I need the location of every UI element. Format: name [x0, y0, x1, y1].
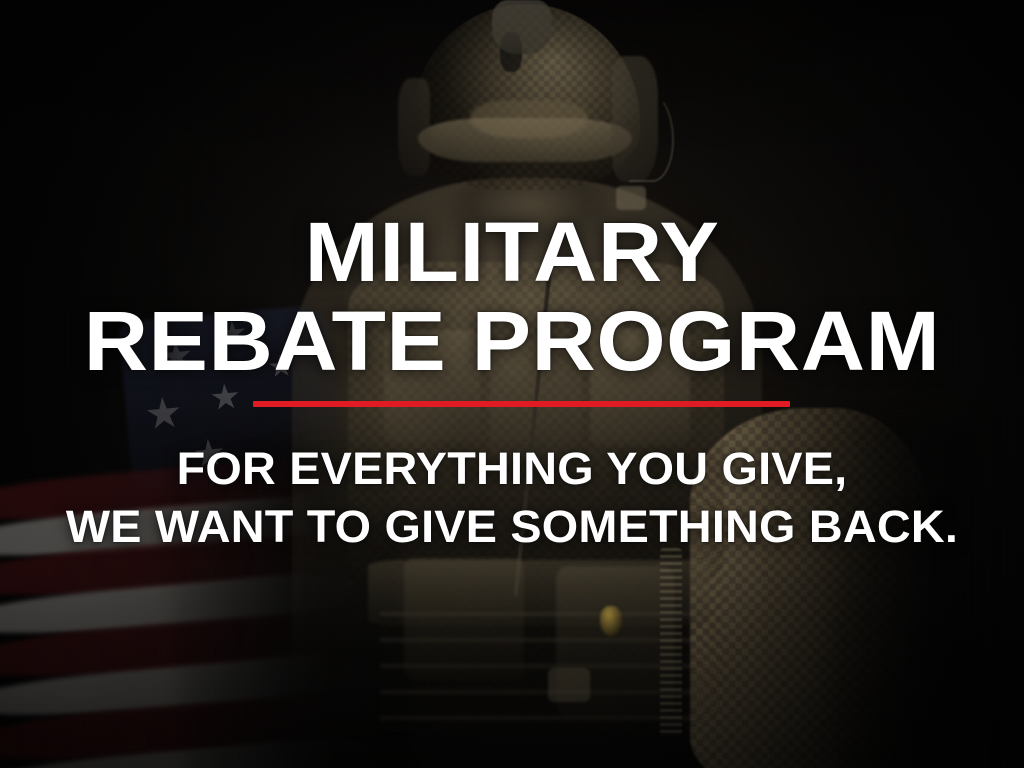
subhead-line-2: WE WANT TO GIVE SOMETHING BACK.	[0, 504, 1024, 549]
headline-line-1: MILITARY	[0, 214, 1024, 291]
text-overlay: MILITARY REBATE PROGRAM FOR EVERYTHING Y…	[0, 0, 1024, 768]
headline-line-2: REBATE PROGRAM	[0, 303, 1024, 380]
military-rebate-banner: MILITARY REBATE PROGRAM FOR EVERYTHING Y…	[0, 0, 1024, 768]
red-divider-rule	[253, 401, 790, 407]
subhead-line-1: FOR EVERYTHING YOU GIVE,	[0, 446, 1024, 491]
